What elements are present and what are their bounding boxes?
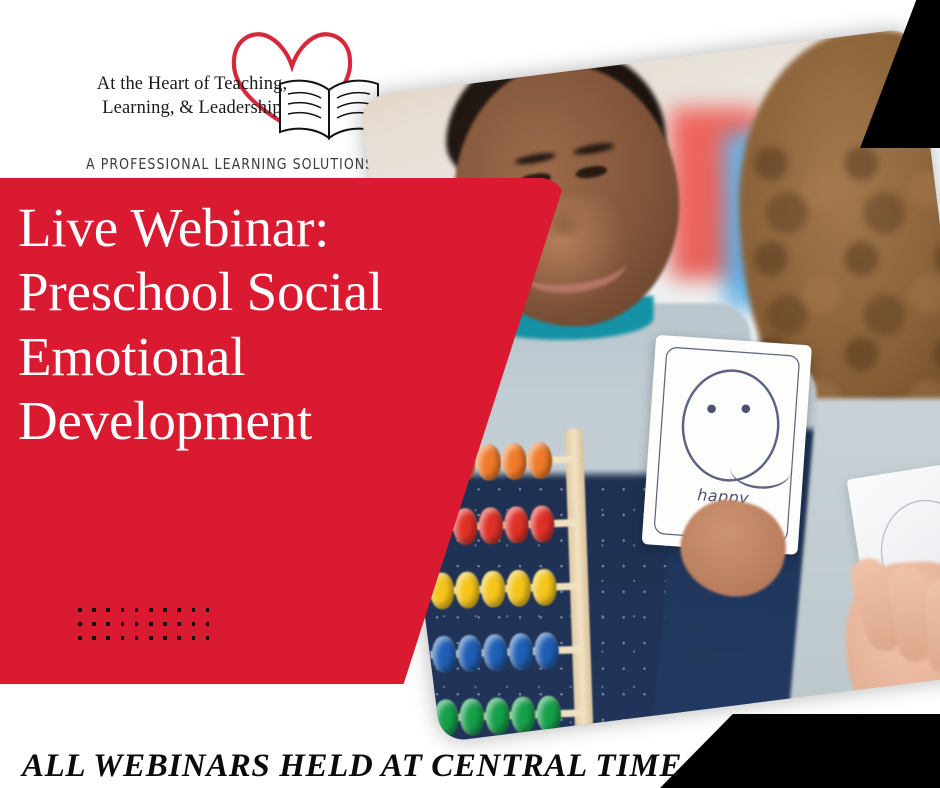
abacus-bead <box>485 697 511 734</box>
abacus-bead <box>478 507 504 544</box>
decorative-dot <box>92 608 96 612</box>
abacus-bead-row <box>359 692 587 741</box>
headline-line-1: Live Webinar: <box>18 196 488 260</box>
black-bar-bottom-right <box>660 714 940 788</box>
decorative-dot <box>106 608 110 612</box>
abacus-bead <box>504 506 530 543</box>
decorative-dot <box>177 608 181 612</box>
decorative-dot <box>149 636 153 640</box>
decorative-dot <box>135 622 139 626</box>
headline-line-4: Development <box>18 389 488 453</box>
abacus-bead <box>483 634 509 671</box>
abacus-bead <box>536 695 562 732</box>
abacus-bead <box>455 571 481 608</box>
abacus-bead <box>408 700 434 737</box>
headline-line-2: Preschool Social <box>18 260 488 324</box>
decorative-dot <box>177 636 181 640</box>
abacus-bead <box>359 702 382 739</box>
abacus-bead <box>502 443 528 480</box>
decorative-dot <box>163 622 167 626</box>
decorative-dot <box>92 636 96 640</box>
abacus-bead <box>508 633 534 670</box>
decorative-dot <box>121 622 125 626</box>
decorative-dot <box>78 622 82 626</box>
decorative-dot <box>78 608 82 612</box>
webinar-promo-poster: At the Heart of Teaching, Learning, & Le… <box>0 0 940 788</box>
decorative-dot <box>192 636 196 640</box>
decorative-dot <box>206 636 210 640</box>
decorative-dot <box>92 622 96 626</box>
decorative-dot <box>177 622 181 626</box>
decorative-dot <box>121 636 125 640</box>
decorative-dot <box>149 622 153 626</box>
decorative-dot <box>106 636 110 640</box>
company-descriptor: A PROFESSIONAL LEARNING SOLUTIONS COMPAN… <box>86 155 381 173</box>
decorative-dot <box>106 622 110 626</box>
logo-tagline-line-2: Learning, & Leadership <box>86 98 298 119</box>
abacus-bead <box>459 698 485 735</box>
abacus-bead <box>532 569 558 606</box>
abacus-bead <box>510 696 536 733</box>
decorative-dot <box>163 608 167 612</box>
decorative-dot <box>149 608 153 612</box>
abacus-bead <box>480 570 506 607</box>
abacus-bead <box>527 442 553 479</box>
decorative-dot-grid <box>78 608 220 651</box>
decorative-dot <box>135 636 139 640</box>
decorative-dot <box>163 636 167 640</box>
abacus-bead <box>431 636 457 673</box>
headline-line-3: Emotional <box>18 325 488 389</box>
footer-note: ALL WEBINARS HELD AT CENTRAL TIME <box>22 748 682 785</box>
decorative-dot <box>206 622 210 626</box>
decorative-dot <box>192 622 196 626</box>
logo-tagline-line-1: At the Heart of Teaching, <box>86 74 298 95</box>
abacus-bead <box>506 569 532 606</box>
abacus-bead <box>457 635 483 672</box>
decorative-dot <box>78 636 82 640</box>
abacus-bead <box>534 632 560 669</box>
abacus-bead <box>382 701 408 738</box>
decorative-dot <box>192 608 196 612</box>
decorative-dot <box>121 608 125 612</box>
page-title: Live Webinar: Preschool Social Emotional… <box>18 196 488 453</box>
decorative-dot <box>206 608 210 612</box>
decorative-dot <box>135 608 139 612</box>
abacus-bead <box>434 699 460 736</box>
abacus-bead <box>529 505 555 542</box>
company-logo: At the Heart of Teaching, Learning, & Le… <box>86 22 386 167</box>
